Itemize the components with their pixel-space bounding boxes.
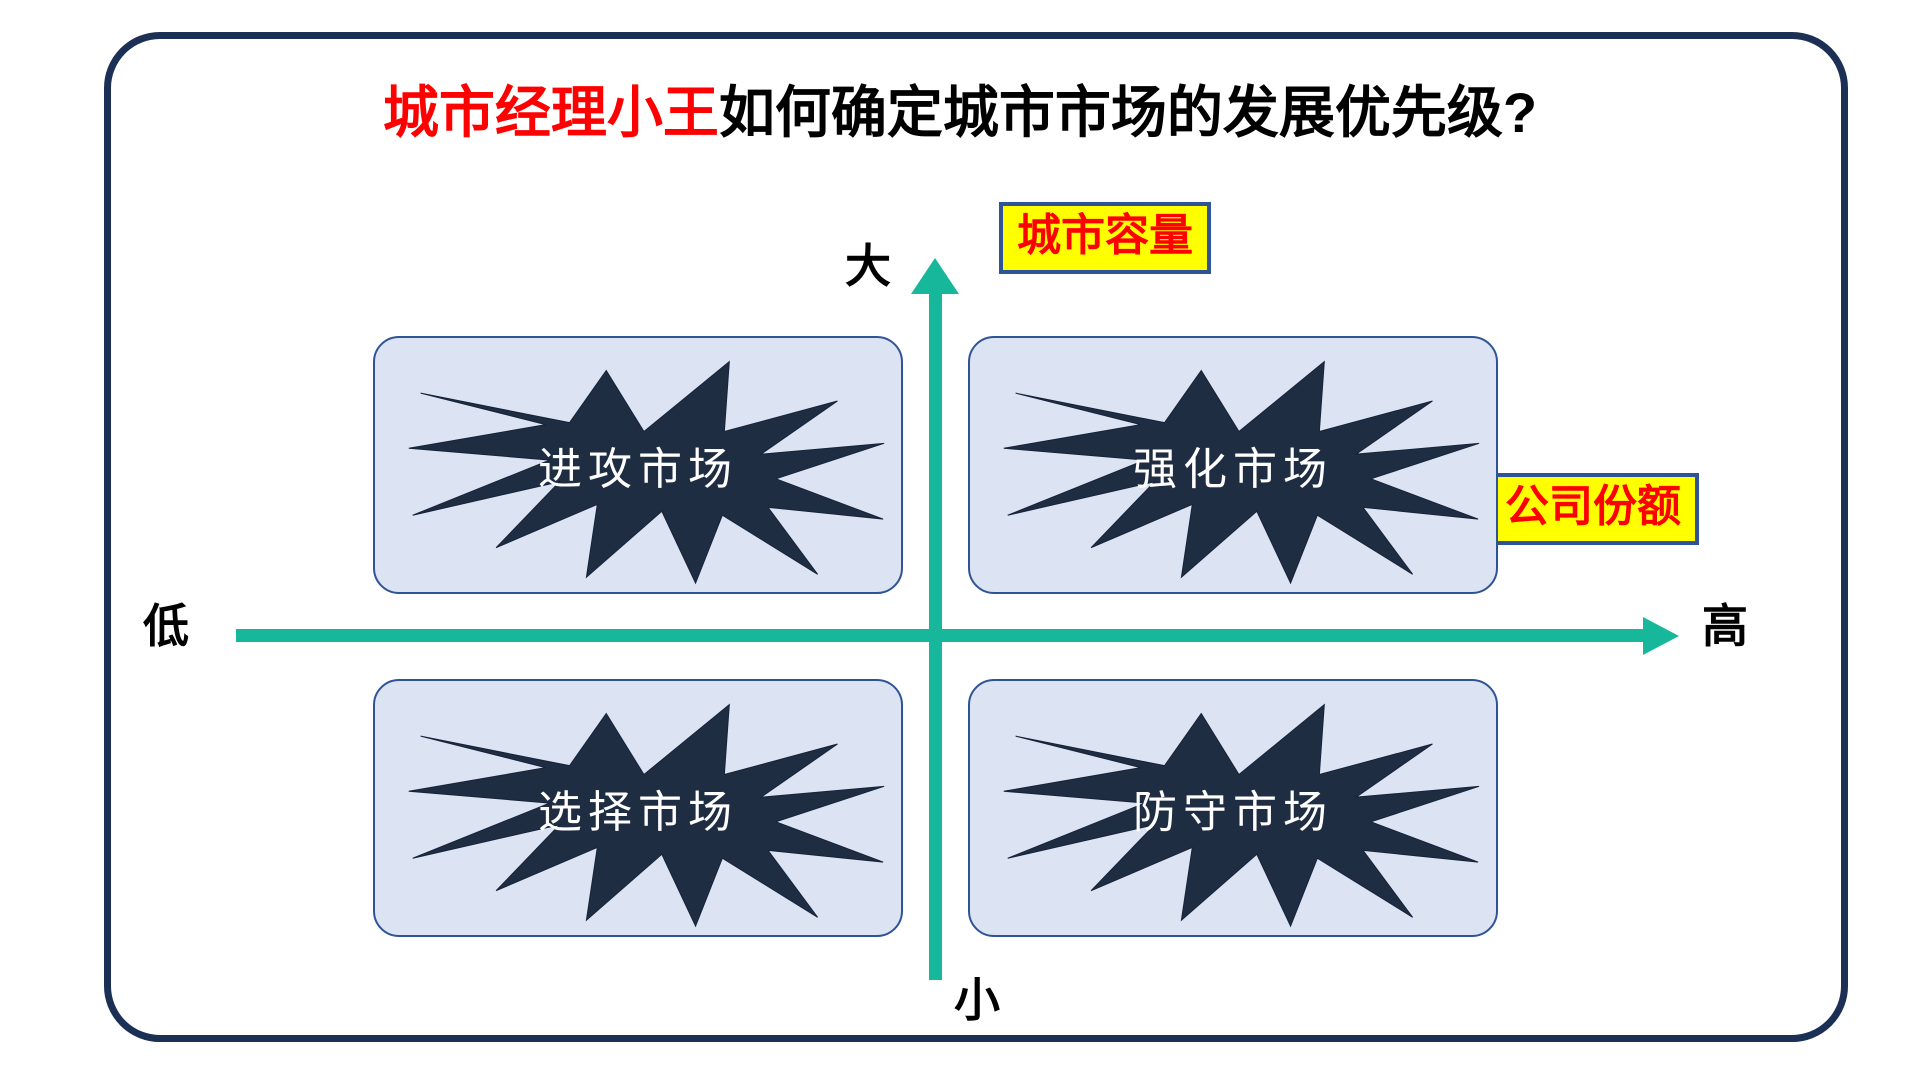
explosion-burst-icon [375, 338, 901, 592]
quadrant-bottom-right[interactable]: 防守市场 [968, 679, 1498, 937]
vertical-axis-low-label: 小 [954, 977, 1000, 1023]
explosion-burst-icon [970, 681, 1496, 935]
slide-canvas: 城市经理小王如何确定城市市场的发展优先级? 城市容量 公司份额 大 小 低 高 … [0, 0, 1920, 1080]
quadrant-top-right[interactable]: 强化市场 [968, 336, 1498, 594]
horizontal-axis-line [236, 629, 1648, 642]
page-title: 城市经理小王如何确定城市市场的发展优先级? [0, 68, 1920, 149]
page-title-rest: 如何确定城市市场的发展优先级? [719, 81, 1537, 144]
quadrant-bottom-left[interactable]: 选择市场 [373, 679, 903, 937]
vertical-axis-title: 城市容量 [999, 202, 1211, 274]
quadrant-top-left[interactable]: 进攻市场 [373, 336, 903, 594]
horizontal-axis-title: 公司份额 [1487, 473, 1699, 545]
horizontal-axis-low-label: 低 [143, 603, 189, 649]
right-arrow-icon [1643, 617, 1679, 655]
page-title-highlight: 城市经理小王 [383, 81, 719, 144]
explosion-burst-icon [970, 338, 1496, 592]
explosion-burst-icon [375, 681, 901, 935]
vertical-axis-high-label: 大 [845, 243, 891, 289]
horizontal-axis-high-label: 高 [1702, 603, 1748, 649]
